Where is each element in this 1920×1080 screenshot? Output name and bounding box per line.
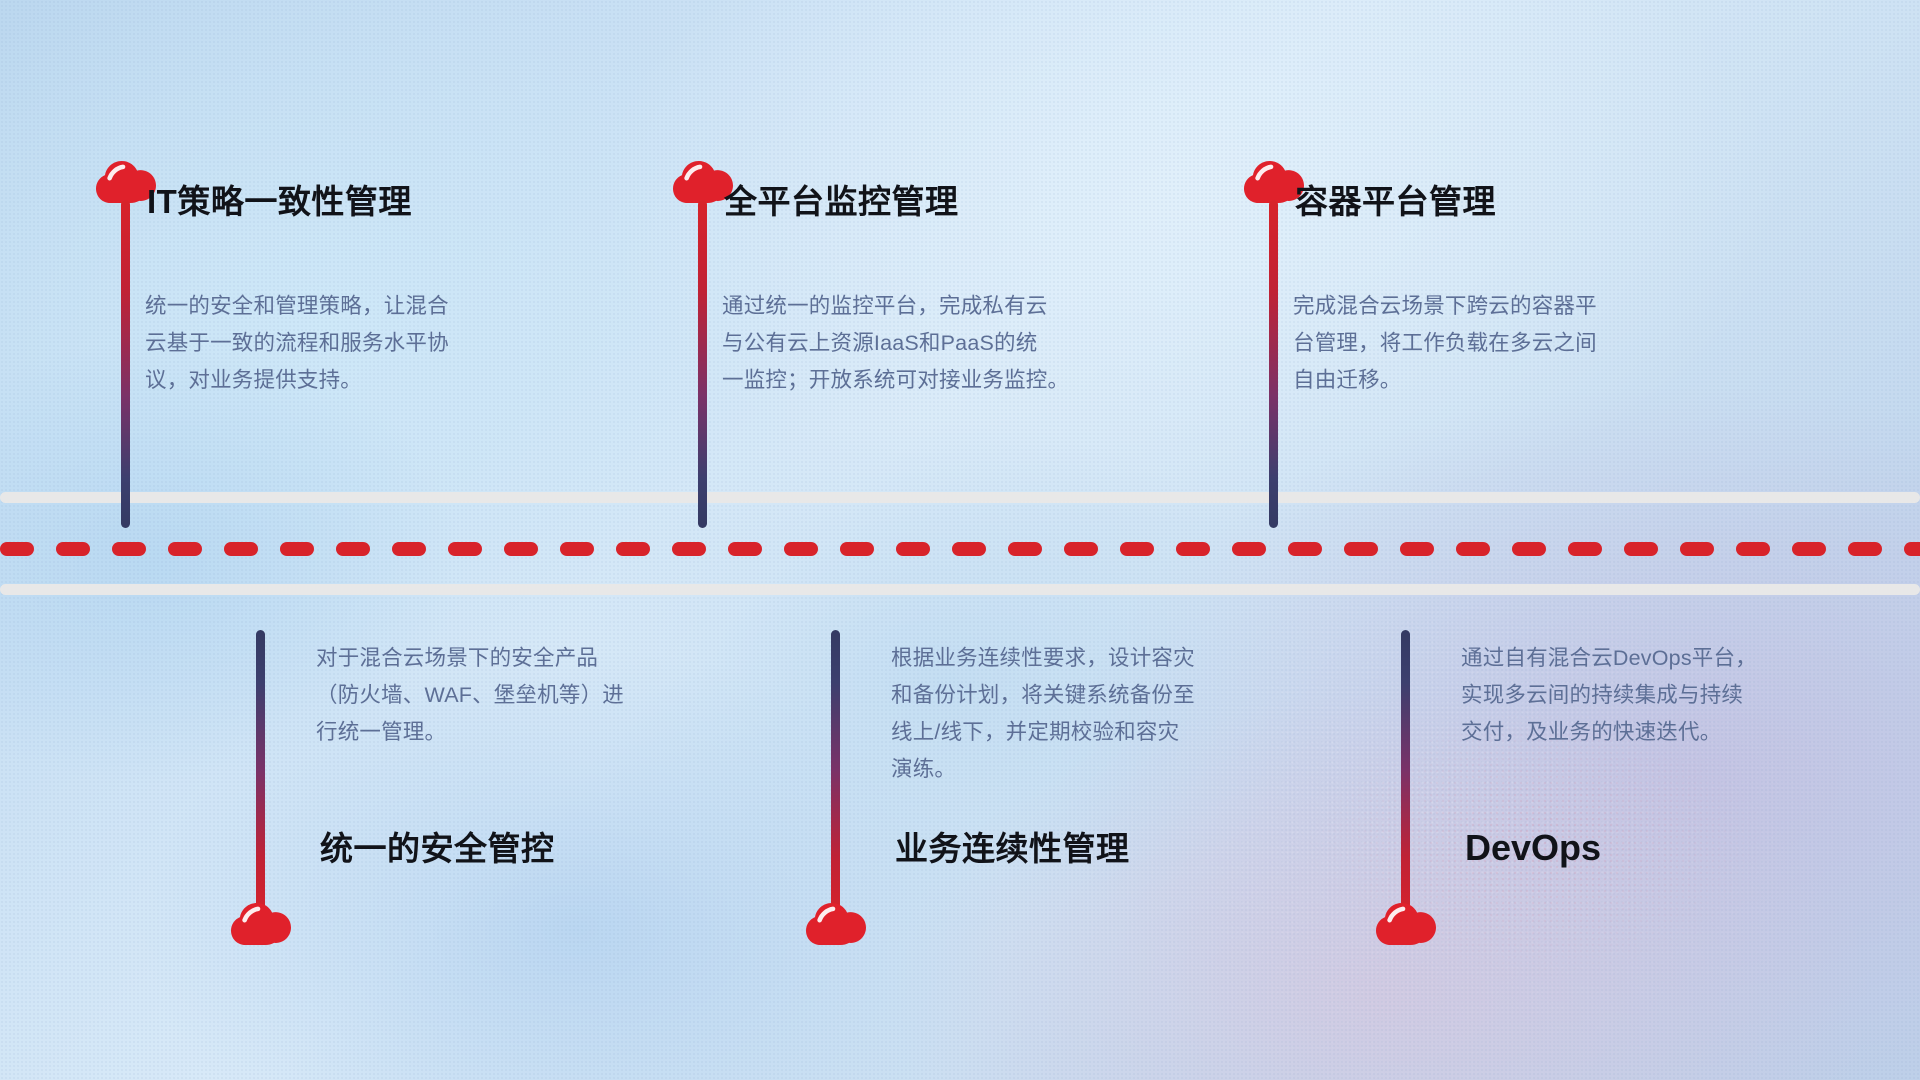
road-dash [280, 542, 314, 556]
road-center-dashes [0, 542, 1920, 556]
road-dash [952, 542, 986, 556]
road-dash [392, 542, 426, 556]
item-description: 对于混合云场景下的安全产品 （防火墙、WAF、堡垒机等）进 行统一管理。 [316, 640, 676, 751]
road-dash [1512, 542, 1546, 556]
road-dash [1120, 542, 1154, 556]
road-dash [56, 542, 90, 556]
road-dash [1400, 542, 1434, 556]
road-dash [784, 542, 818, 556]
item-description: 通过统一的监控平台，完成私有云 与公有云上资源IaaS和PaaS的统 一监控；开… [722, 288, 1090, 399]
road-dash [1176, 542, 1210, 556]
road-dash [1008, 542, 1042, 556]
item-title: 全平台监控管理 [724, 185, 959, 218]
item-description: 通过自有混合云DevOps平台， 实现多云间的持续集成与持续 交付，及业务的快速… [1461, 640, 1821, 751]
road-dash [224, 542, 258, 556]
road-dash [1624, 542, 1658, 556]
road-dash [504, 542, 538, 556]
cloud-icon [805, 902, 867, 946]
road-dash [112, 542, 146, 556]
item-title: 容器平台管理 [1295, 185, 1496, 218]
top-item-3: 容器平台管理 完成混合云场景下跨云的容器平 台管理，将工作负载在多云之间 自由迁… [1243, 160, 1305, 204]
top-item-2: 全平台监控管理 通过统一的监控平台，完成私有云 与公有云上资源IaaS和PaaS… [672, 160, 734, 204]
road-dash [1568, 542, 1602, 556]
road-dash [1736, 542, 1770, 556]
road-dash [1064, 542, 1098, 556]
road-dash [1344, 542, 1378, 556]
road-dash [896, 542, 930, 556]
road-dash [840, 542, 874, 556]
road-dash [336, 542, 370, 556]
road-edge-top [0, 492, 1920, 503]
road-dash [1680, 542, 1714, 556]
cloud-icon [1375, 902, 1437, 946]
road-dash [0, 542, 34, 556]
connector-line [698, 200, 707, 528]
item-title: 业务连续性管理 [895, 832, 1130, 865]
road-dash [672, 542, 706, 556]
road-dash [1848, 542, 1882, 556]
connector-line [256, 630, 265, 922]
item-title: 统一的安全管控 [320, 832, 555, 865]
connector-line [1269, 200, 1278, 528]
road-dash [616, 542, 650, 556]
item-description: 统一的安全和管理策略，让混合 云基于一致的流程和服务水平协 议，对业务提供支持。 [145, 288, 495, 399]
cloud-icon [230, 902, 292, 946]
road-dash [1288, 542, 1322, 556]
road-dash [1232, 542, 1266, 556]
connector-line [831, 630, 840, 922]
item-title: DevOps [1465, 830, 1601, 866]
item-description: 根据业务连续性要求，设计容灾 和备份计划，将关键系统备份至 线上/线下，并定期校… [891, 640, 1261, 788]
item-description: 完成混合云场景下跨云的容器平 台管理，将工作负载在多云之间 自由迁移。 [1293, 288, 1643, 399]
top-item-1: IT策略一致性管理 统一的安全和管理策略，让混合 云基于一致的流程和服务水平协 … [95, 160, 157, 204]
road-dash [168, 542, 202, 556]
road-dash [1456, 542, 1490, 556]
connector-line [121, 200, 130, 528]
road-dash [728, 542, 762, 556]
road-dash [448, 542, 482, 556]
road-dash [1792, 542, 1826, 556]
road-dash [560, 542, 594, 556]
connector-line [1401, 630, 1410, 922]
item-title: IT策略一致性管理 [147, 185, 412, 218]
road-dash [1904, 542, 1920, 556]
road-edge-bottom [0, 584, 1920, 595]
